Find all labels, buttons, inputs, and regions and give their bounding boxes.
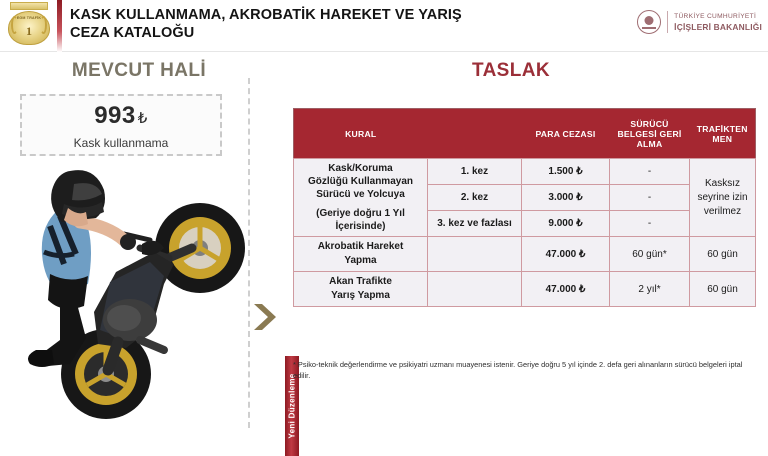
license-2: - xyxy=(610,185,690,211)
rule-racing-line-1: Akan Trafikte xyxy=(329,276,392,287)
ministry-line-1: TÜRKİYE CUMHURİYETİ xyxy=(674,12,762,22)
fine-3: 9.000 ₺ xyxy=(522,211,610,237)
ban-racing: 60 gün xyxy=(690,272,756,307)
ban-acrobatic: 60 gün xyxy=(690,237,756,272)
rule-acrobatic: Akrobatik Hareket Yapma xyxy=(294,237,428,272)
column-header-rule: KURAL xyxy=(294,109,428,159)
occurrence-racing xyxy=(428,272,522,307)
license-1: - xyxy=(610,159,690,185)
content-area: MEVCUT HALİ 993₺ Kask kullanmama xyxy=(0,52,768,431)
rule-acrobatic-line-1: Akrobatik Hareket xyxy=(318,241,404,252)
current-penalty-value: 993 xyxy=(94,102,136,129)
fine-racing: 47.000 ₺ xyxy=(522,272,610,307)
front-wheel xyxy=(155,203,245,293)
column-header-occurrence xyxy=(428,109,522,159)
table-row: Akan Trafikte Yarış Yapma 47.000 ₺ 2 yıl… xyxy=(294,272,756,307)
fine-2: 3.000 ₺ xyxy=(522,185,610,211)
laurel-left-icon xyxy=(11,16,18,34)
draft-panel: TASLAK Yeni Düzenleme KURAL PARA xyxy=(278,52,768,431)
current-state-panel: MEVCUT HALİ 993₺ Kask kullanmama xyxy=(0,52,278,431)
table-row: Akrobatik Hareket Yapma 47.000 ₺ 60 gün*… xyxy=(294,237,756,272)
ministry-seal-icon xyxy=(637,10,661,34)
rule-helmet-group: Kask/Koruma Gözlüğü Kullanmayan Sürücü v… xyxy=(294,159,428,237)
currency-symbol: ₺ xyxy=(138,110,148,127)
rule-line-1: Kask/Koruma xyxy=(328,163,392,174)
occurrence-1: 1. kez xyxy=(428,159,522,185)
arrow-right-icon xyxy=(252,302,278,332)
ministry-logo: TÜRKİYE CUMHURİYETİ İÇİŞLERİ BAKANLIĞI xyxy=(637,10,762,34)
fine-1: 1.500 ₺ xyxy=(522,159,610,185)
traffic-ban-helmet-group: Kasksız seyrine izin verilmez xyxy=(690,159,756,237)
traffic-emblem-icon: EGM TRAFİK 1 xyxy=(6,2,52,48)
new-regulation-label: Yeni Düzenleme xyxy=(288,373,297,438)
occurrence-3: 3. kez ve fazlası xyxy=(428,211,522,237)
penalty-table: KURAL PARA CEZASI SÜRÜCÜ BELGESİ GERİ AL… xyxy=(293,108,756,307)
rider-boot xyxy=(28,350,54,367)
table-footnote: * Psiko-teknik değerlendirme ve psikiyat… xyxy=(293,360,755,381)
motorcycle-wheelie-image xyxy=(14,152,264,427)
draft-title: TASLAK xyxy=(278,60,744,82)
fine-acrobatic: 47.000 ₺ xyxy=(522,237,610,272)
column-header-fine: PARA CEZASI xyxy=(522,109,610,159)
rule-line-3: Sürücü ve Yolcuya xyxy=(316,189,405,200)
rule-racing: Akan Trafikte Yarış Yapma xyxy=(294,272,428,307)
page-title-line-2: CEZA KATALOĞU xyxy=(70,24,630,42)
rule-line-5: İçerisinde) xyxy=(335,221,385,232)
table-row: Kask/Koruma Gözlüğü Kullanmayan Sürücü v… xyxy=(294,159,756,185)
page-header: EGM TRAFİK 1 KASK KULLANMAMA, AKROBATİK … xyxy=(0,0,768,52)
penalty-table-wrapper: Yeni Düzenleme KURAL PARA CEZASI SÜRÜCÜ … xyxy=(293,108,755,307)
emblem-plaque xyxy=(10,2,48,10)
page-title-line-1: KASK KULLANMAMA, AKROBATİK HAREKET VE YA… xyxy=(70,7,462,23)
rule-racing-line-2: Yarış Yapma xyxy=(331,290,390,301)
rule-acrobatic-line-2: Yapma xyxy=(344,255,376,266)
occurrence-2: 2. kez xyxy=(428,185,522,211)
page-title: KASK KULLANMAMA, AKROBATİK HAREKET VE YA… xyxy=(70,6,630,42)
table-header-row: KURAL PARA CEZASI SÜRÜCÜ BELGESİ GERİ AL… xyxy=(294,109,756,159)
license-3: - xyxy=(610,211,690,237)
current-penalty-caption: Kask kullanmama xyxy=(22,136,220,150)
current-penalty-amount: 993₺ xyxy=(22,102,220,130)
rule-line-2: Gözlüğü Kullanmayan xyxy=(308,176,413,187)
ministry-text: TÜRKİYE CUMHURİYETİ İÇİŞLERİ BAKANLIĞI xyxy=(674,12,762,32)
panel-divider xyxy=(248,78,250,428)
column-header-traffic-ban: TRAFİKTEN MEN xyxy=(690,109,756,159)
rule-line-4: (Geriye doğru 1 Yıl xyxy=(316,208,405,219)
current-state-title: MEVCUT HALİ xyxy=(0,60,278,82)
license-acrobatic: 60 gün* xyxy=(610,237,690,272)
laurel-right-icon xyxy=(40,16,47,34)
occurrence-acrobatic xyxy=(428,237,522,272)
license-racing: 2 yıl* xyxy=(610,272,690,307)
current-penalty-box: 993₺ Kask kullanmama xyxy=(20,94,222,156)
ministry-divider xyxy=(667,11,668,33)
header-divider xyxy=(57,0,62,52)
column-header-license-suspension: SÜRÜCÜ BELGESİ GERİ ALMA xyxy=(610,109,690,159)
ministry-line-2: İÇİŞLERİ BAKANLIĞI xyxy=(674,22,762,32)
